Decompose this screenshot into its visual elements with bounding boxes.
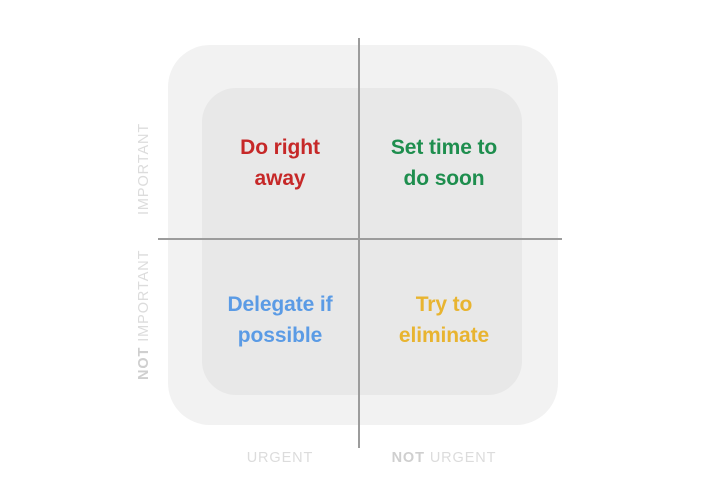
axis-label-not-important-negation: NOT — [136, 347, 152, 380]
axis-label-not-urgent: NOT URGENT — [366, 450, 522, 470]
horizontal-axis-line — [158, 238, 562, 240]
axis-label-important: IMPORTANT — [136, 65, 156, 215]
vertical-axis-line — [358, 38, 360, 448]
eisenhower-matrix: Do right away Set time to do soon Delega… — [0, 0, 720, 480]
axis-label-urgent: URGENT — [202, 450, 358, 470]
axis-label-not-important-word — [136, 342, 152, 347]
quadrant-label-important-urgent: Do right away — [240, 132, 320, 194]
axis-label-not-important: NOT IMPORTANT — [136, 230, 156, 380]
quadrant-not-important-not-urgent[interactable]: Try to eliminate — [366, 245, 522, 395]
quadrant-important-not-urgent[interactable]: Set time to do soon — [366, 88, 522, 238]
quadrant-important-urgent[interactable]: Do right away — [202, 88, 358, 238]
axis-label-not-urgent-negation: NOT — [392, 450, 425, 466]
quadrant-not-important-urgent[interactable]: Delegate if possible — [202, 245, 358, 395]
quadrant-label-not-important-not-urgent: Try to eliminate — [399, 289, 489, 351]
quadrant-label-important-not-urgent: Set time to do soon — [391, 132, 497, 194]
quadrant-label-not-important-urgent: Delegate if possible — [227, 289, 332, 351]
